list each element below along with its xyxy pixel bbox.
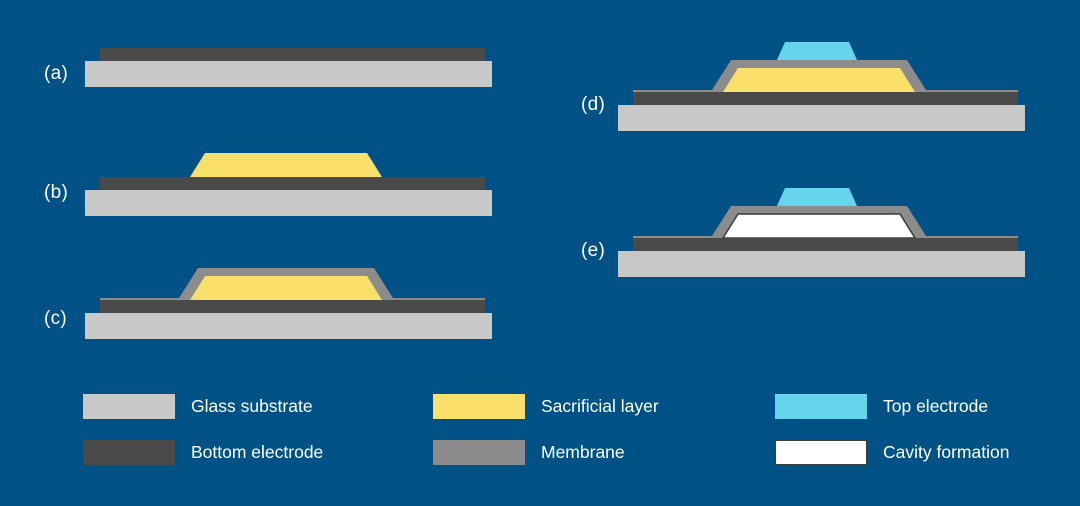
figure-canvas: (a) (b) (c) (d) bbox=[0, 0, 1080, 506]
bottom-electrode-layer bbox=[100, 300, 485, 313]
legend-item-cavity-formation: Cavity formation bbox=[775, 440, 1009, 465]
panel-label-b: (b) bbox=[44, 182, 68, 204]
sacrificial-layer bbox=[190, 153, 382, 177]
legend-item-membrane: Membrane bbox=[433, 440, 625, 465]
top-electrode-layer bbox=[777, 188, 857, 206]
legend-label-sacrificial-layer: Sacrificial layer bbox=[541, 396, 659, 417]
sacrificial-layer bbox=[190, 276, 382, 300]
legend-label-top-electrode: Top electrode bbox=[883, 396, 988, 417]
legend: Glass substrate Bottom electrode Sacrifi… bbox=[0, 382, 1080, 482]
legend-label-cavity-formation: Cavity formation bbox=[883, 442, 1009, 463]
legend-label-glass-substrate: Glass substrate bbox=[191, 396, 313, 417]
bottom-electrode-layer bbox=[633, 92, 1018, 105]
legend-item-glass-substrate: Glass substrate bbox=[83, 394, 313, 419]
glass-substrate-layer bbox=[85, 313, 492, 339]
panel-a-diagram bbox=[85, 48, 500, 98]
top-electrode-layer bbox=[777, 42, 857, 60]
legend-swatch-bottom-electrode bbox=[83, 440, 175, 465]
panel-label-d: (d) bbox=[581, 94, 605, 116]
glass-substrate-layer bbox=[618, 251, 1025, 277]
legend-item-bottom-electrode: Bottom electrode bbox=[83, 440, 323, 465]
cavity-region bbox=[723, 214, 915, 238]
glass-substrate-layer bbox=[85, 190, 492, 216]
panel-label-e: (e) bbox=[581, 240, 605, 262]
bottom-electrode-layer bbox=[100, 48, 485, 61]
sacrificial-layer bbox=[723, 68, 915, 92]
panel-b-diagram bbox=[85, 145, 500, 215]
legend-label-bottom-electrode: Bottom electrode bbox=[191, 442, 323, 463]
glass-substrate-layer bbox=[618, 105, 1025, 131]
legend-swatch-sacrificial-layer bbox=[433, 394, 525, 419]
legend-item-sacrificial-layer: Sacrificial layer bbox=[433, 394, 659, 419]
panel-d-diagram bbox=[618, 36, 1033, 124]
panel-c-diagram bbox=[85, 268, 500, 338]
glass-substrate-layer bbox=[85, 61, 492, 87]
panel-label-c: (c) bbox=[44, 308, 67, 330]
panel-e-diagram bbox=[618, 182, 1033, 270]
legend-swatch-membrane bbox=[433, 440, 525, 465]
legend-swatch-cavity-formation bbox=[775, 440, 867, 465]
panel-label-a: (a) bbox=[44, 63, 68, 85]
bottom-electrode-layer bbox=[633, 238, 1018, 251]
legend-label-membrane: Membrane bbox=[541, 442, 625, 463]
bottom-electrode-layer bbox=[100, 177, 485, 190]
legend-swatch-top-electrode bbox=[775, 394, 867, 419]
legend-item-top-electrode: Top electrode bbox=[775, 394, 988, 419]
legend-swatch-glass-substrate bbox=[83, 394, 175, 419]
